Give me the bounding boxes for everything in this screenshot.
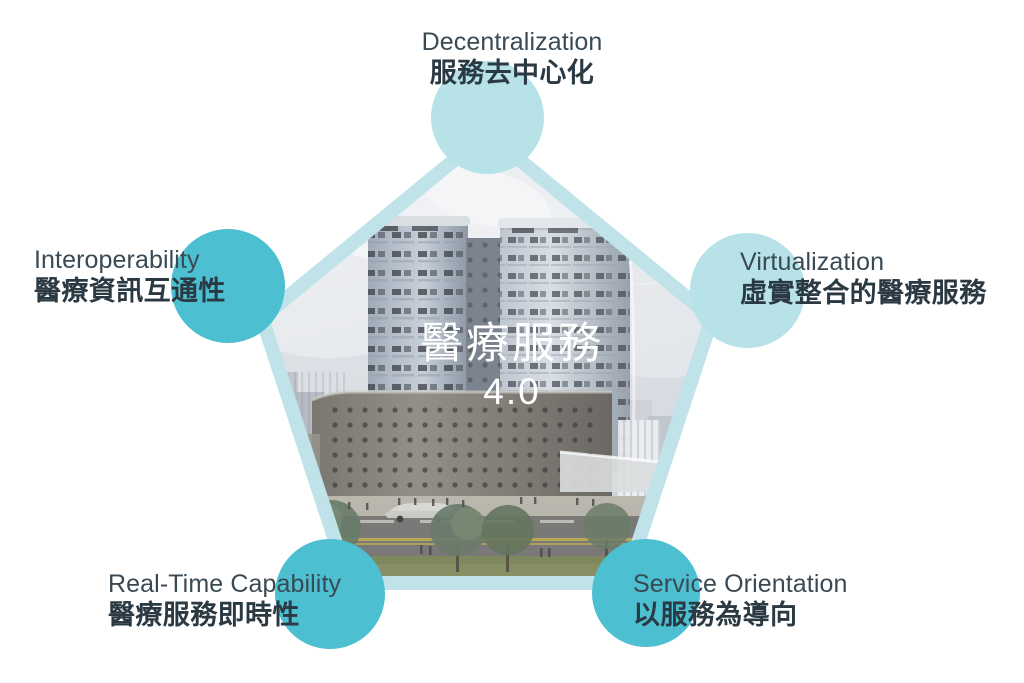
node-label-real-time-capability-zh: 醫療服務即時性 xyxy=(108,600,341,631)
node-label-service-orientation: Service Orientation 以服務為導向 xyxy=(633,570,848,631)
node-label-real-time-capability: Real-Time Capability 醫療服務即時性 xyxy=(108,570,341,631)
diagram-canvas: Decentralization 服務去中心化 Interoperability… xyxy=(0,0,1024,683)
node-label-interoperability-zh: 醫療資訊互通性 xyxy=(34,276,226,307)
node-label-decentralization-zh: 服務去中心化 xyxy=(0,58,1024,89)
node-label-virtualization-zh: 虛實整合的醫療服務 xyxy=(740,278,987,309)
node-label-interoperability-en: Interoperability xyxy=(34,246,226,275)
node-label-decentralization-en: Decentralization xyxy=(0,28,1024,57)
node-label-service-orientation-zh: 以服務為導向 xyxy=(633,600,848,631)
node-label-virtualization-en: Virtualization xyxy=(740,248,987,277)
node-label-virtualization: Virtualization 虛實整合的醫療服務 xyxy=(740,248,987,309)
node-label-service-orientation-en: Service Orientation xyxy=(633,570,848,599)
node-label-real-time-capability-en: Real-Time Capability xyxy=(108,570,341,599)
center-photo xyxy=(225,110,750,616)
node-label-interoperability: Interoperability 醫療資訊互通性 xyxy=(34,246,226,307)
node-label-decentralization: Decentralization 服務去中心化 xyxy=(0,28,1024,89)
